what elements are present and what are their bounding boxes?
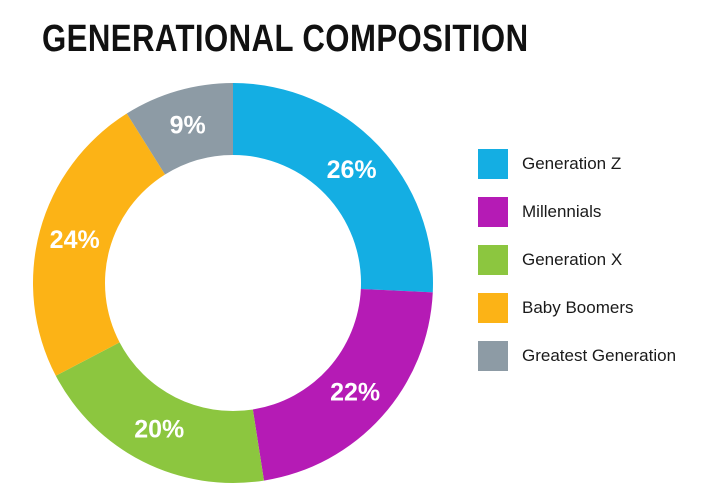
legend-item-greatest-generation[interactable]: Greatest Generation	[478, 340, 698, 372]
donut-slice[interactable]	[233, 83, 433, 292]
legend-item-label: Baby Boomers	[522, 298, 634, 318]
donut-slice-label: 22%	[330, 378, 380, 406]
donut-chart-svg: 26%22%20%24%9%	[33, 83, 433, 483]
chart-legend: Generation Z Millennials Generation X Ba…	[478, 148, 698, 372]
legend-swatch-icon	[478, 149, 508, 179]
legend-item-label: Greatest Generation	[522, 346, 676, 366]
page-title: GENERATIONAL COMPOSITION	[42, 18, 528, 60]
legend-item-label: Generation Z	[522, 154, 621, 174]
donut-slice-group	[33, 83, 433, 483]
legend-item-baby-boomers[interactable]: Baby Boomers	[478, 292, 698, 324]
donut-chart: 26%22%20%24%9%	[33, 83, 433, 483]
legend-item-label: Generation X	[522, 250, 622, 270]
legend-item-generation-z[interactable]: Generation Z	[478, 148, 698, 180]
legend-swatch-icon	[478, 245, 508, 275]
legend-swatch-icon	[478, 197, 508, 227]
donut-slice-label: 24%	[50, 226, 100, 254]
legend-item-generation-x[interactable]: Generation X	[478, 244, 698, 276]
donut-slice-label: 9%	[170, 111, 206, 139]
legend-item-label: Millennials	[522, 202, 601, 222]
legend-item-millennials[interactable]: Millennials	[478, 196, 698, 228]
legend-swatch-icon	[478, 293, 508, 323]
legend-swatch-icon	[478, 341, 508, 371]
donut-slice-label: 20%	[134, 415, 184, 443]
donut-slice[interactable]	[56, 342, 264, 483]
donut-slice-label: 26%	[327, 156, 377, 184]
